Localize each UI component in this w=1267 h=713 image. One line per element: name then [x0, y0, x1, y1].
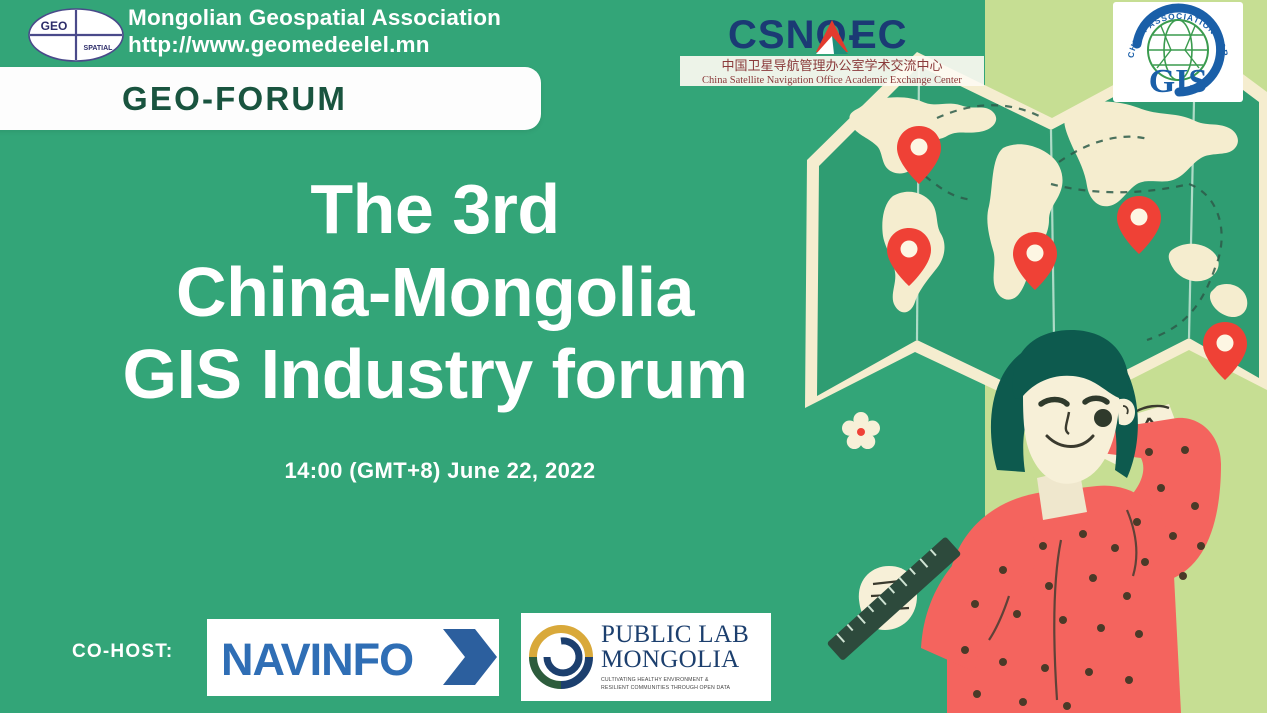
ruler [827, 536, 962, 661]
public-lab-tagline: CULTIVATING HEALTHY ENVIRONMENT & RESILI… [601, 677, 749, 693]
mongolian-geospatial-association-logo: GEO SPATIAL [22, 6, 130, 64]
right-light-panel [985, 0, 1267, 713]
csno-chinese-name: 中国卫星导航管理办公室学术交流中心 [721, 58, 942, 74]
title-line-2: China-Mongolia [0, 251, 870, 334]
forum-poster: GEO SPATIAL Mongolian Geospatial Associa… [0, 0, 1267, 713]
china-association-for-gis-logo: CHINA ASSOCIATION FOR GIS GIS [1113, 2, 1243, 102]
geo-forum-badge: GEO-FORUM [0, 67, 541, 130]
cohost-label: CO-HOST: [72, 641, 173, 663]
geo-forum-label: GEO-FORUM [122, 80, 347, 118]
title-line-1: The 3rd [0, 168, 870, 251]
public-lab-mongolia-logo: PUBLIC LAB MONGOLIA CULTIVATING HEALTHY … [521, 613, 771, 701]
navinfo-logo: NAVINFO [207, 619, 499, 696]
mga-logo-geo-text: GEO [41, 19, 68, 33]
public-lab-name-line1: PUBLIC LAB [601, 622, 749, 648]
page-title: The 3rd China-Mongolia GIS Industry foru… [0, 168, 870, 416]
navinfo-chevron-icon [443, 629, 497, 685]
csno-aec-logo: CSNO- EC 中国卫星导航管理办公室学术交流中心 China Satelli… [672, 8, 992, 88]
flower-icon [842, 412, 880, 450]
public-lab-name-line2: MONGOLIA [601, 647, 749, 673]
navinfo-wordmark: NAVINFO [221, 634, 413, 685]
mga-logo-spatial-text: SPATIAL [84, 45, 114, 52]
association-name: Mongolian Geospatial Association http://… [128, 4, 501, 59]
csno-english-name: China Satellite Navigation Office Academ… [702, 75, 962, 86]
title-line-3: GIS Industry forum [0, 333, 870, 416]
event-datetime: 14:00 (GMT+8) June 22, 2022 [0, 458, 880, 484]
csno-acronym-tail-text: EC [850, 13, 908, 57]
public-lab-circle-icon [527, 623, 595, 691]
gis-acronym-text: GIS [1149, 63, 1208, 100]
